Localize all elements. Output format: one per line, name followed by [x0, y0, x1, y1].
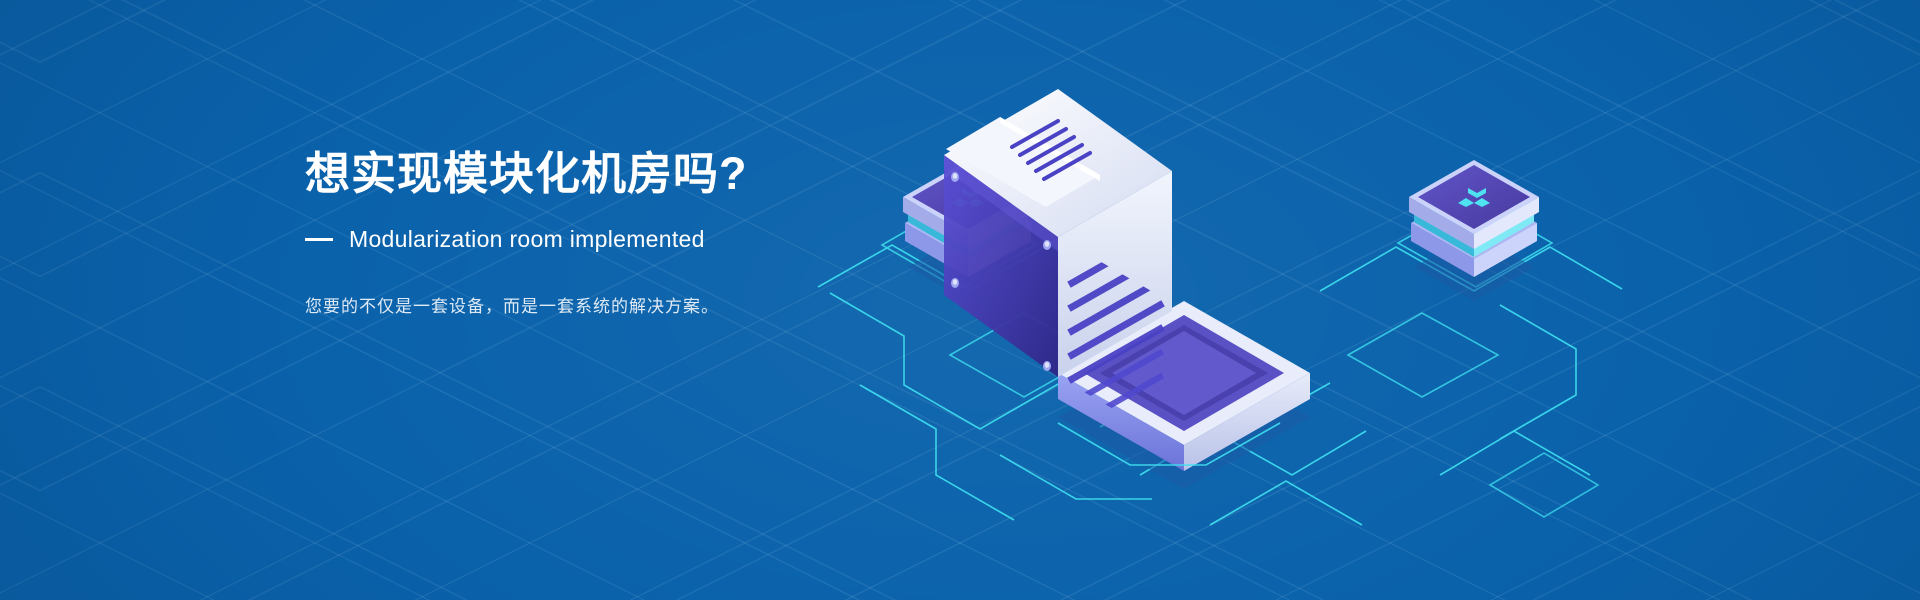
description-text: 您要的不仅是一套设备，而是一套系统的解决方案。: [305, 293, 925, 320]
dash-rule-icon: [305, 238, 333, 241]
subtitle: Modularization room implemented: [349, 226, 705, 253]
subtitle-row: Modularization room implemented: [305, 226, 925, 253]
page-title: 想实现模块化机房吗?: [305, 148, 925, 200]
hero-copy-block: 想实现模块化机房吗? Modularization room implement…: [305, 148, 925, 320]
hero-banner: 想实现模块化机房吗? Modularization room implement…: [0, 0, 1920, 600]
isometric-server-room-illustration: [800, 55, 1640, 545]
